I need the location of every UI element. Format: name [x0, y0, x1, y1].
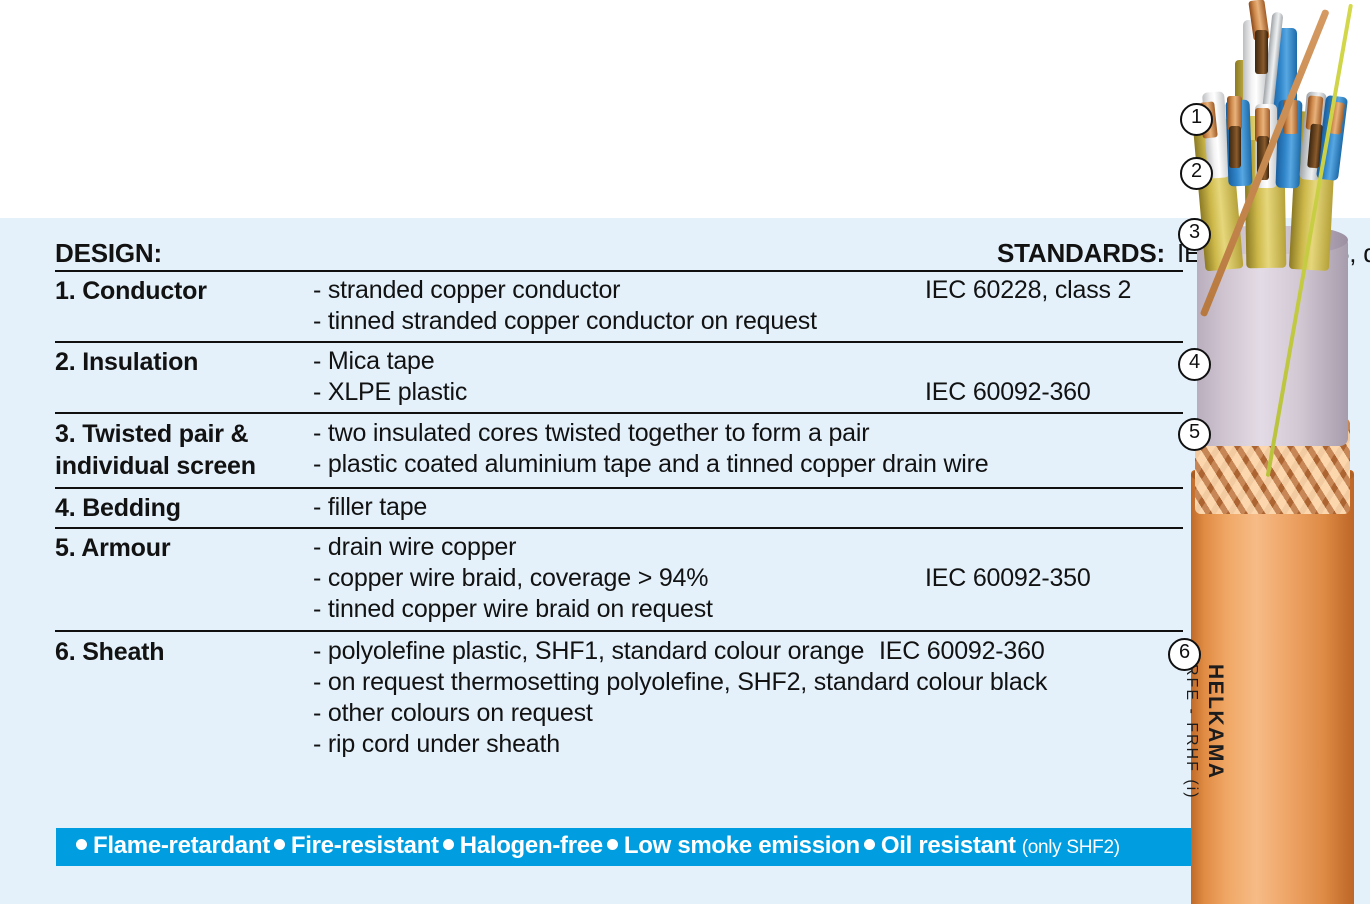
design-spec-table: DESIGN: STANDARDS: IEC 60092-376, design… — [55, 236, 1183, 764]
description-line: - polyolefine plastic, SHF1, standard co… — [313, 636, 1183, 667]
bullet-icon — [76, 839, 87, 850]
table-row: 4. Bedding - filler tape — [55, 489, 1183, 529]
description-line: - Mica tape — [313, 346, 1183, 377]
cable-cutaway-photo: HELKAMA RFE - FRHF (i) — [1183, 0, 1370, 904]
design-heading: DESIGN: — [55, 238, 162, 268]
row-description: - two insulated cores twisted together t… — [313, 418, 1183, 480]
description-text: - XLPE plastic — [313, 378, 467, 406]
row-description: - polyolefine plastic, SHF1, standard co… — [313, 636, 1183, 760]
row-label: 6. Sheath — [55, 636, 313, 668]
row-description: - drain wire copper - copper wire braid,… — [313, 532, 1183, 625]
description-line: - rip cord under sheath — [313, 729, 1183, 760]
table-row: 3. Twisted pair & individual screen - tw… — [55, 414, 1183, 489]
feature-note: (only SHF2) — [1022, 837, 1120, 858]
cable-copper-conductor — [1229, 126, 1241, 168]
callout-marker-2: 2 — [1180, 157, 1213, 190]
description-line: - XLPE plastic IEC 60092-360 — [313, 377, 1183, 408]
standards-heading: STANDARDS: — [997, 236, 1165, 270]
table-row: 5. Armour - drain wire copper - copper w… — [55, 529, 1183, 632]
datasheet-page: DESIGN: STANDARDS: IEC 60092-376, design… — [0, 0, 1370, 904]
description-line: - filler tape — [313, 492, 1183, 523]
standard-value: IEC 60228, class 2 — [925, 275, 1131, 306]
table-row: 1. Conductor - stranded copper conductor… — [55, 272, 1183, 343]
standard-value: IEC 60092-360 — [925, 377, 1091, 408]
feature-item: Flame-retardant — [93, 832, 270, 859]
row-label: 5. Armour — [55, 532, 313, 564]
callout-marker-5: 5 — [1178, 418, 1211, 451]
row-description: - filler tape — [313, 492, 1183, 523]
cable-brand-text: HELKAMA — [1204, 664, 1227, 780]
cable-copper-conductor — [1227, 96, 1242, 130]
description-line: - tinned copper wire braid on request — [313, 594, 1183, 625]
description-line: - tinned stranded copper conductor on re… — [313, 306, 1183, 337]
description-line: - two insulated cores twisted together t… — [313, 418, 1183, 449]
row-label: 1. Conductor — [55, 275, 313, 307]
table-row: 6. Sheath - polyolefine plastic, SHF1, s… — [55, 632, 1183, 764]
row-label: 2. Insulation — [55, 346, 313, 378]
row-description: - Mica tape - XLPE plastic IEC 60092-360 — [313, 346, 1183, 408]
cable-sheath-marking: HELKAMA RFE - FRHF (i) — [1183, 664, 1227, 800]
bullet-icon — [274, 839, 285, 850]
bullet-icon — [607, 839, 618, 850]
feature-item: Low smoke emission — [624, 832, 860, 859]
description-line: - plastic coated aluminium tape and a ti… — [313, 449, 1183, 480]
feature-banner: Flame-retardantFire-resistantHalogen-fre… — [56, 828, 1298, 866]
table-header-row: DESIGN: STANDARDS: IEC 60092-376, design — [55, 236, 1183, 272]
feature-item: Halogen-free — [460, 832, 603, 859]
description-text: - copper wire braid, coverage > 94% — [313, 564, 708, 592]
table-row: 2. Insulation - Mica tape - XLPE plastic… — [55, 343, 1183, 414]
cable-copper-conductor — [1255, 30, 1268, 74]
bullet-icon — [443, 839, 454, 850]
row-label-line1: 3. Twisted pair & — [55, 420, 248, 448]
bullet-icon — [864, 839, 875, 850]
standard-value: IEC 60092-350 — [925, 563, 1091, 594]
callout-marker-1: 1 — [1180, 103, 1213, 136]
description-text: - stranded copper conductor — [313, 276, 620, 304]
callout-marker-3: 3 — [1178, 218, 1211, 251]
feature-item: Oil resistant — [881, 832, 1016, 859]
standard-value: IEC 60092-360 — [879, 637, 1045, 665]
description-text: - polyolefine plastic, SHF1, standard co… — [313, 637, 864, 665]
cable-type-text: RFE - FRHF (i) — [1183, 664, 1200, 800]
description-line: - on request thermosetting polyolefine, … — [313, 667, 1183, 698]
row-label-line2: individual screen — [55, 452, 256, 480]
row-label: 4. Bedding — [55, 492, 313, 524]
row-label: 3. Twisted pair & individual screen — [55, 418, 313, 482]
feature-banner-text: Flame-retardantFire-resistantHalogen-fre… — [56, 828, 1120, 866]
callout-marker-4: 4 — [1178, 348, 1211, 381]
callout-marker-6: 6 — [1168, 638, 1201, 671]
description-line: - drain wire copper — [313, 532, 1183, 563]
row-description: - stranded copper conductor IEC 60228, c… — [313, 275, 1183, 337]
description-line: - copper wire braid, coverage > 94% IEC … — [313, 563, 1183, 594]
feature-item: Fire-resistant — [291, 832, 439, 859]
description-line: - other colours on request — [313, 698, 1183, 729]
description-line: - stranded copper conductor IEC 60228, c… — [313, 275, 1183, 306]
